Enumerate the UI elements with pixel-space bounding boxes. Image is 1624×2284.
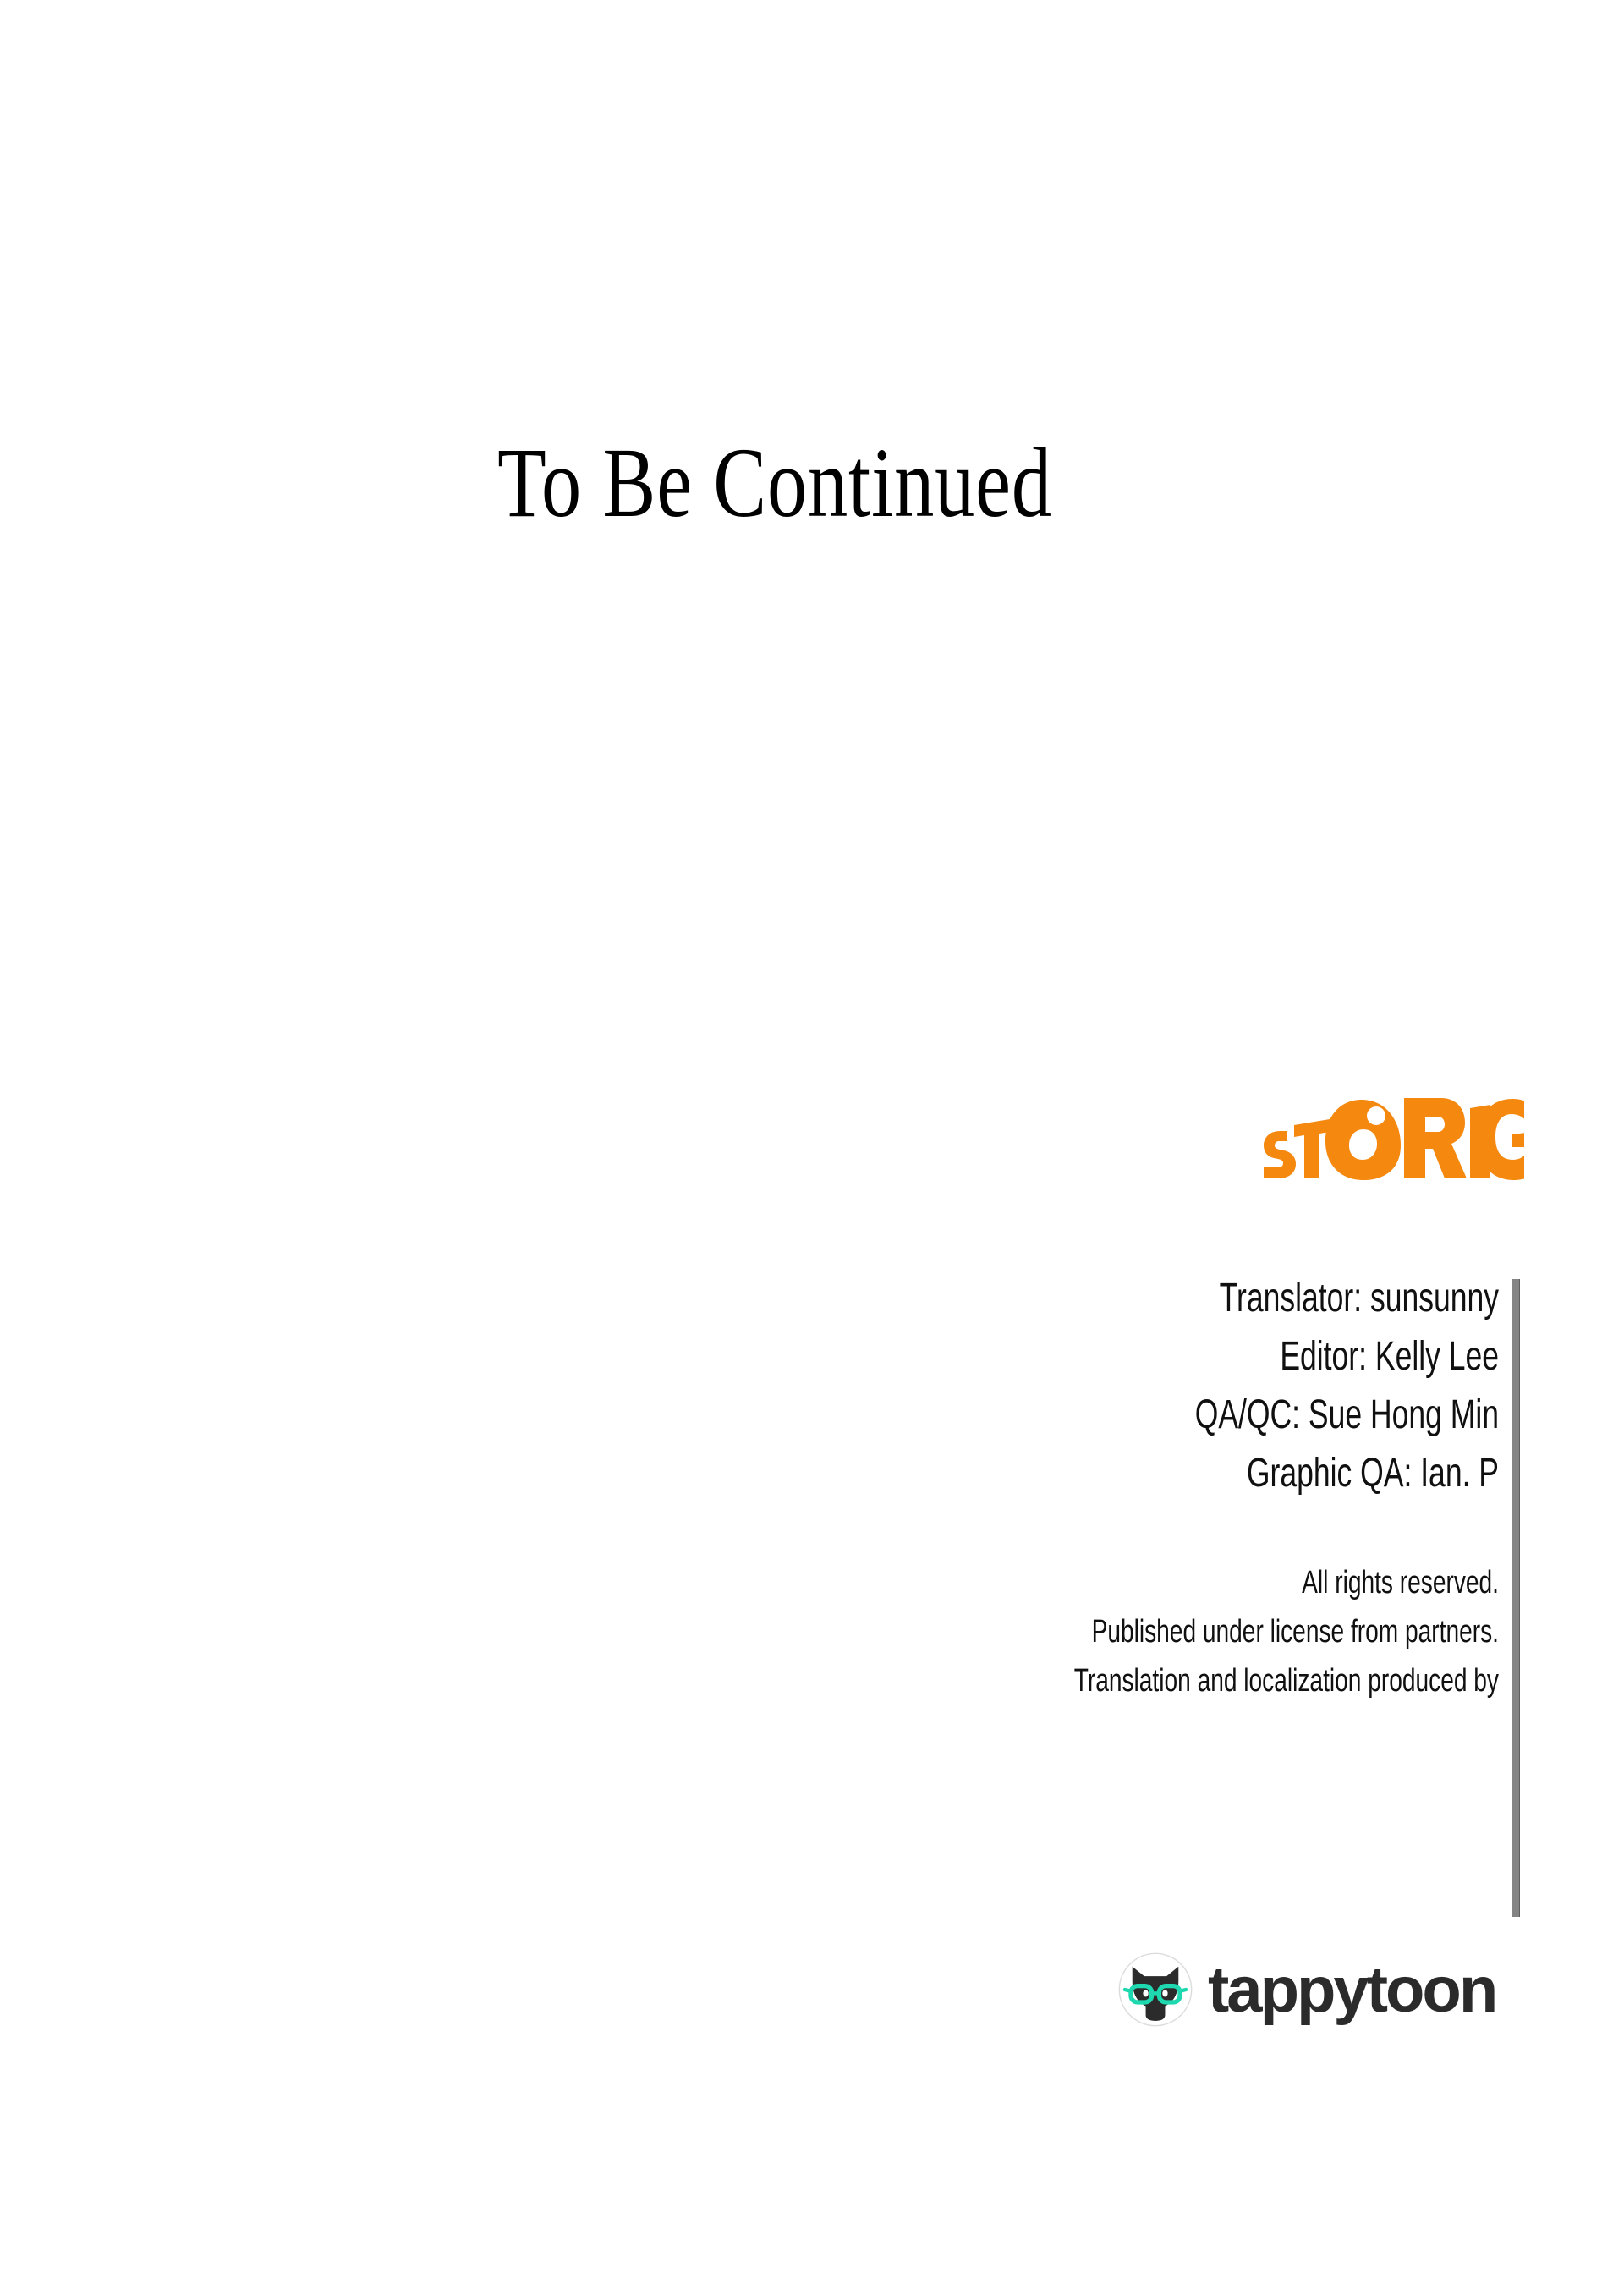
svg-text:tappytoon: tappytoon [1208, 1954, 1495, 2026]
page-title: To Be Continued [162, 433, 1462, 533]
tappytoon-cat-icon [1118, 1952, 1193, 2027]
rights-produced-by: Translation and localization produced by [765, 1656, 1499, 1705]
credit-editor: Editor: Kelly Lee [765, 1327, 1499, 1386]
tappytoon-wordmark: tappytoon [1208, 1952, 1517, 2027]
credits-block: Translator: sunsunny Editor: Kelly Lee Q… [507, 1269, 1499, 1705]
vertical-divider [1512, 1279, 1520, 1917]
tappytoon-logo: tappytoon [1118, 1946, 1517, 2034]
comic-end-page: To Be Continued [0, 0, 1624, 2284]
storigin-logo [1254, 1084, 1524, 1182]
credit-translator: Translator: sunsunny [765, 1269, 1499, 1327]
rights-all-reserved: All rights reserved. [765, 1558, 1499, 1607]
rights-license: Published under license from partners. [765, 1607, 1499, 1656]
rights-block: All rights reserved. Published under lic… [507, 1558, 1499, 1705]
credit-qa-qc: QA/QC: Sue Hong Min [765, 1386, 1499, 1444]
credit-graphic-qa: Graphic QA: Ian. P [765, 1444, 1499, 1502]
